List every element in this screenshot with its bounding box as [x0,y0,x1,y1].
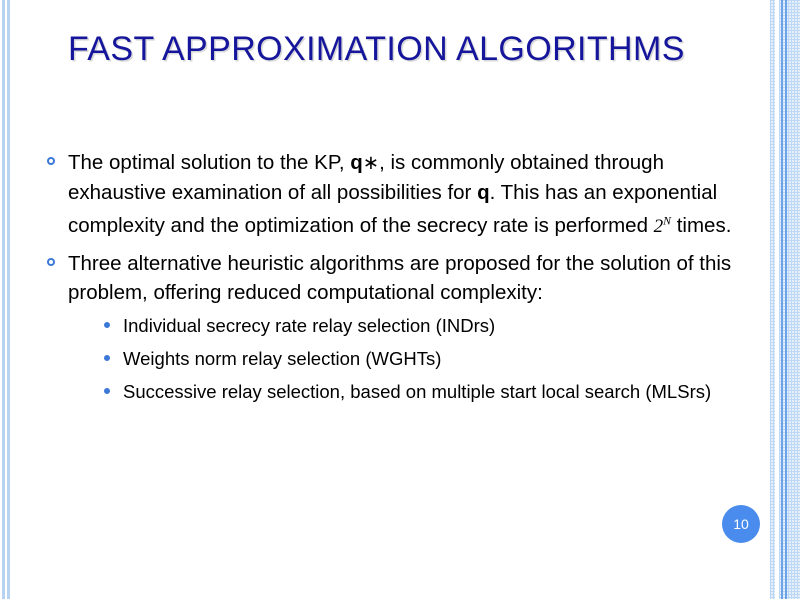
sub-bullet-list: Individual secrecy rate relay selection … [68,312,734,405]
math-symbol-q: q [477,181,490,204]
right-band-accent-line-1 [781,0,783,599]
bullet-item: The optimal solution to the KP, q∗, is c… [44,148,734,242]
bullet-text-segment: times. [671,214,731,237]
math-power-exponent: N [663,215,671,228]
math-power-base: 2 [654,216,664,237]
bullet-item: Three alternative heuristic algorithms a… [44,249,734,405]
dot-bullet-icon [104,355,110,361]
sub-bullet-text: Individual secrecy rate relay selection … [123,315,495,336]
dot-bullet-icon [104,322,110,328]
slide-title: Fast Approximation Algorithms [68,28,728,70]
hollow-circle-bullet-icon [47,258,55,266]
right-band-accent-line-2 [785,0,787,599]
sub-bullet-item: Individual secrecy rate relay selection … [102,312,734,339]
slide-body: The optimal solution to the KP, q∗, is c… [44,148,734,412]
math-symbol-q: q [350,151,363,174]
slide-canvas: Fast Approximation Algorithms The optima… [0,0,800,599]
sub-bullet-item: Successive relay selection, based on mul… [102,378,734,405]
bullet-text: Three alternative heuristic algorithms a… [68,252,731,305]
math-symbol-star: ∗ [363,151,379,174]
right-decorative-band [770,0,800,599]
math-power-expression: 2N [654,216,671,237]
sub-bullet-item: Weights norm relay selection (WGHTs) [102,345,734,372]
right-band-hatch-left [770,0,775,599]
hollow-circle-bullet-icon [47,157,55,165]
sub-bullet-text: Weights norm relay selection (WGHTs) [123,348,441,369]
dot-bullet-icon [104,388,110,394]
bullet-text: The optimal solution to the KP, q∗, is c… [68,151,731,237]
sub-bullet-text: Successive relay selection, based on mul… [123,381,711,402]
bullet-text-segment: The optimal solution to the KP, [68,151,350,174]
left-decorative-rule-outer [2,0,5,599]
page-number-badge: 10 [722,505,760,543]
left-decorative-rule-inner [7,0,10,599]
